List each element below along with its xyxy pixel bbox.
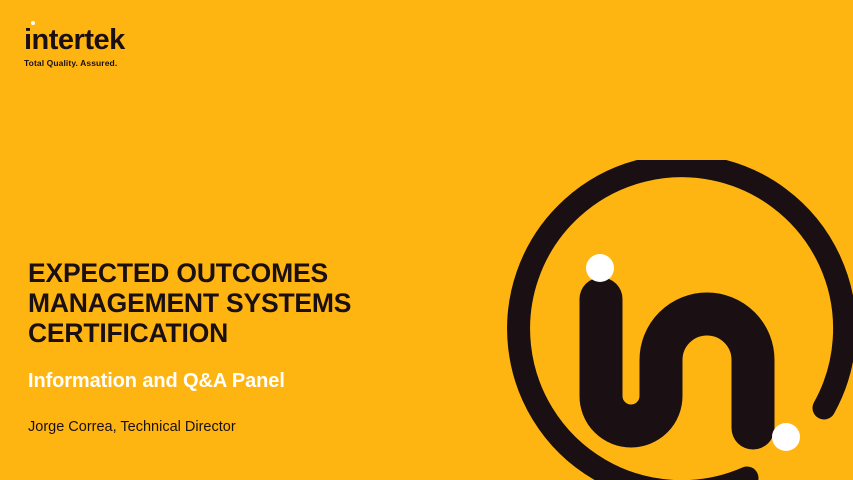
intertek-in-monogram-icon [470,160,853,480]
brand-tittle-dot-icon [31,21,35,25]
title-line-1: EXPECTED OUTCOMES [28,258,458,288]
title-line-3: CERTIFICATION [28,318,458,348]
brand-logo: intertek Total Quality. Assured. [24,26,244,68]
slide-text-block: EXPECTED OUTCOMES MANAGEMENT SYSTEMS CER… [28,258,458,436]
page-subtitle: Information and Q&A Panel [28,369,458,393]
brand-wordmark: intertek [24,26,244,56]
brand-tagline: Total Quality. Assured. [24,59,244,68]
title-line-2: MANAGEMENT SYSTEMS [28,288,458,318]
tittle-dot-icon [586,254,614,282]
presenter-name: Jorge Correa, Technical Director [28,419,458,436]
accent-dot-icon [772,423,800,451]
presentation-slide: intertek Total Quality. Assured. EXPECTE… [0,0,853,480]
page-title: EXPECTED OUTCOMES MANAGEMENT SYSTEMS CER… [28,258,458,349]
